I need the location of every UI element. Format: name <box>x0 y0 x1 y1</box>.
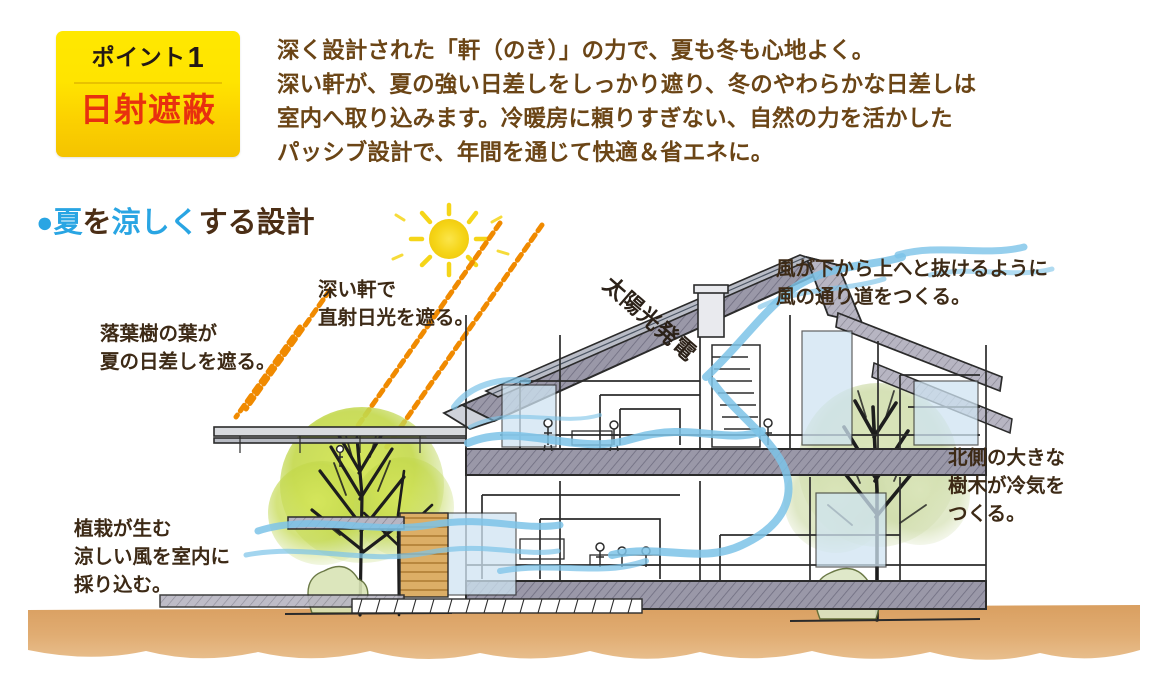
note-north-tree-line-2: 樹木が冷気を <box>948 472 1065 500</box>
badge-point-label: ポイント1 <box>56 44 240 73</box>
note-eave: 深い軒で 直射日光を遮る。 <box>318 276 474 332</box>
gravel-strip <box>352 599 642 613</box>
note-planting: 植栽が生む 涼しい風を室内に 採り込む。 <box>74 515 230 599</box>
badge-title: 日射遮蔽 <box>56 93 240 128</box>
note-north-tree: 北側の大きな 樹木が冷気を つくる。 <box>948 444 1065 528</box>
note-tree-left-line-1: 落葉樹の葉が <box>100 320 276 348</box>
lead-line-4: パッシブ設計で、年間を通じて快適＆省エネに。 <box>277 136 1037 170</box>
lead-line-2: 深い軒が、夏の強い日差しをしっかり遮り、冬のやわらかな日差しは <box>277 68 1037 102</box>
point-badge: ポイント1 日射遮蔽 <box>56 31 240 157</box>
badge-point-number: 1 <box>186 42 205 74</box>
note-north-tree-line-3: つくる。 <box>948 500 1065 528</box>
infographic-page: ポイント1 日射遮蔽 深く設計された「軒（のき）」の力で、夏も冬も心地よく。 深… <box>0 0 1152 673</box>
note-wind: 風が下から上へと抜けるように 風の通り道をつくる。 <box>776 255 1048 311</box>
lead-line-1: 深く設計された「軒（のき）」の力で、夏も冬も心地よく。 <box>277 34 1037 68</box>
badge-divider <box>74 82 222 84</box>
note-planting-line-3: 採り込む。 <box>74 571 230 599</box>
note-tree-left-line-2: 夏の日差しを遮る。 <box>100 348 276 376</box>
badge-point-text: ポイント <box>92 44 186 70</box>
note-eave-line-2: 直射日光を遮る。 <box>318 304 474 332</box>
note-tree-left: 落葉樹の葉が 夏の日差しを遮る。 <box>100 320 276 376</box>
lead-line-3: 室内へ取り込みます。冷暖房に頼りすぎない、自然の力を活かした <box>277 102 1037 136</box>
note-wind-line-2: 風の通り道をつくる。 <box>776 283 1048 311</box>
note-wind-line-1: 風が下から上へと抜けるように <box>776 255 1048 283</box>
lead-paragraph: 深く設計された「軒（のき）」の力で、夏も冬も心地よく。 深い軒が、夏の強い日差し… <box>277 34 1037 170</box>
note-planting-line-1: 植栽が生む <box>74 515 230 543</box>
note-eave-line-1: 深い軒で <box>318 276 474 304</box>
note-planting-line-2: 涼しい風を室内に <box>74 543 230 571</box>
note-north-tree-line-1: 北側の大きな <box>948 444 1065 472</box>
